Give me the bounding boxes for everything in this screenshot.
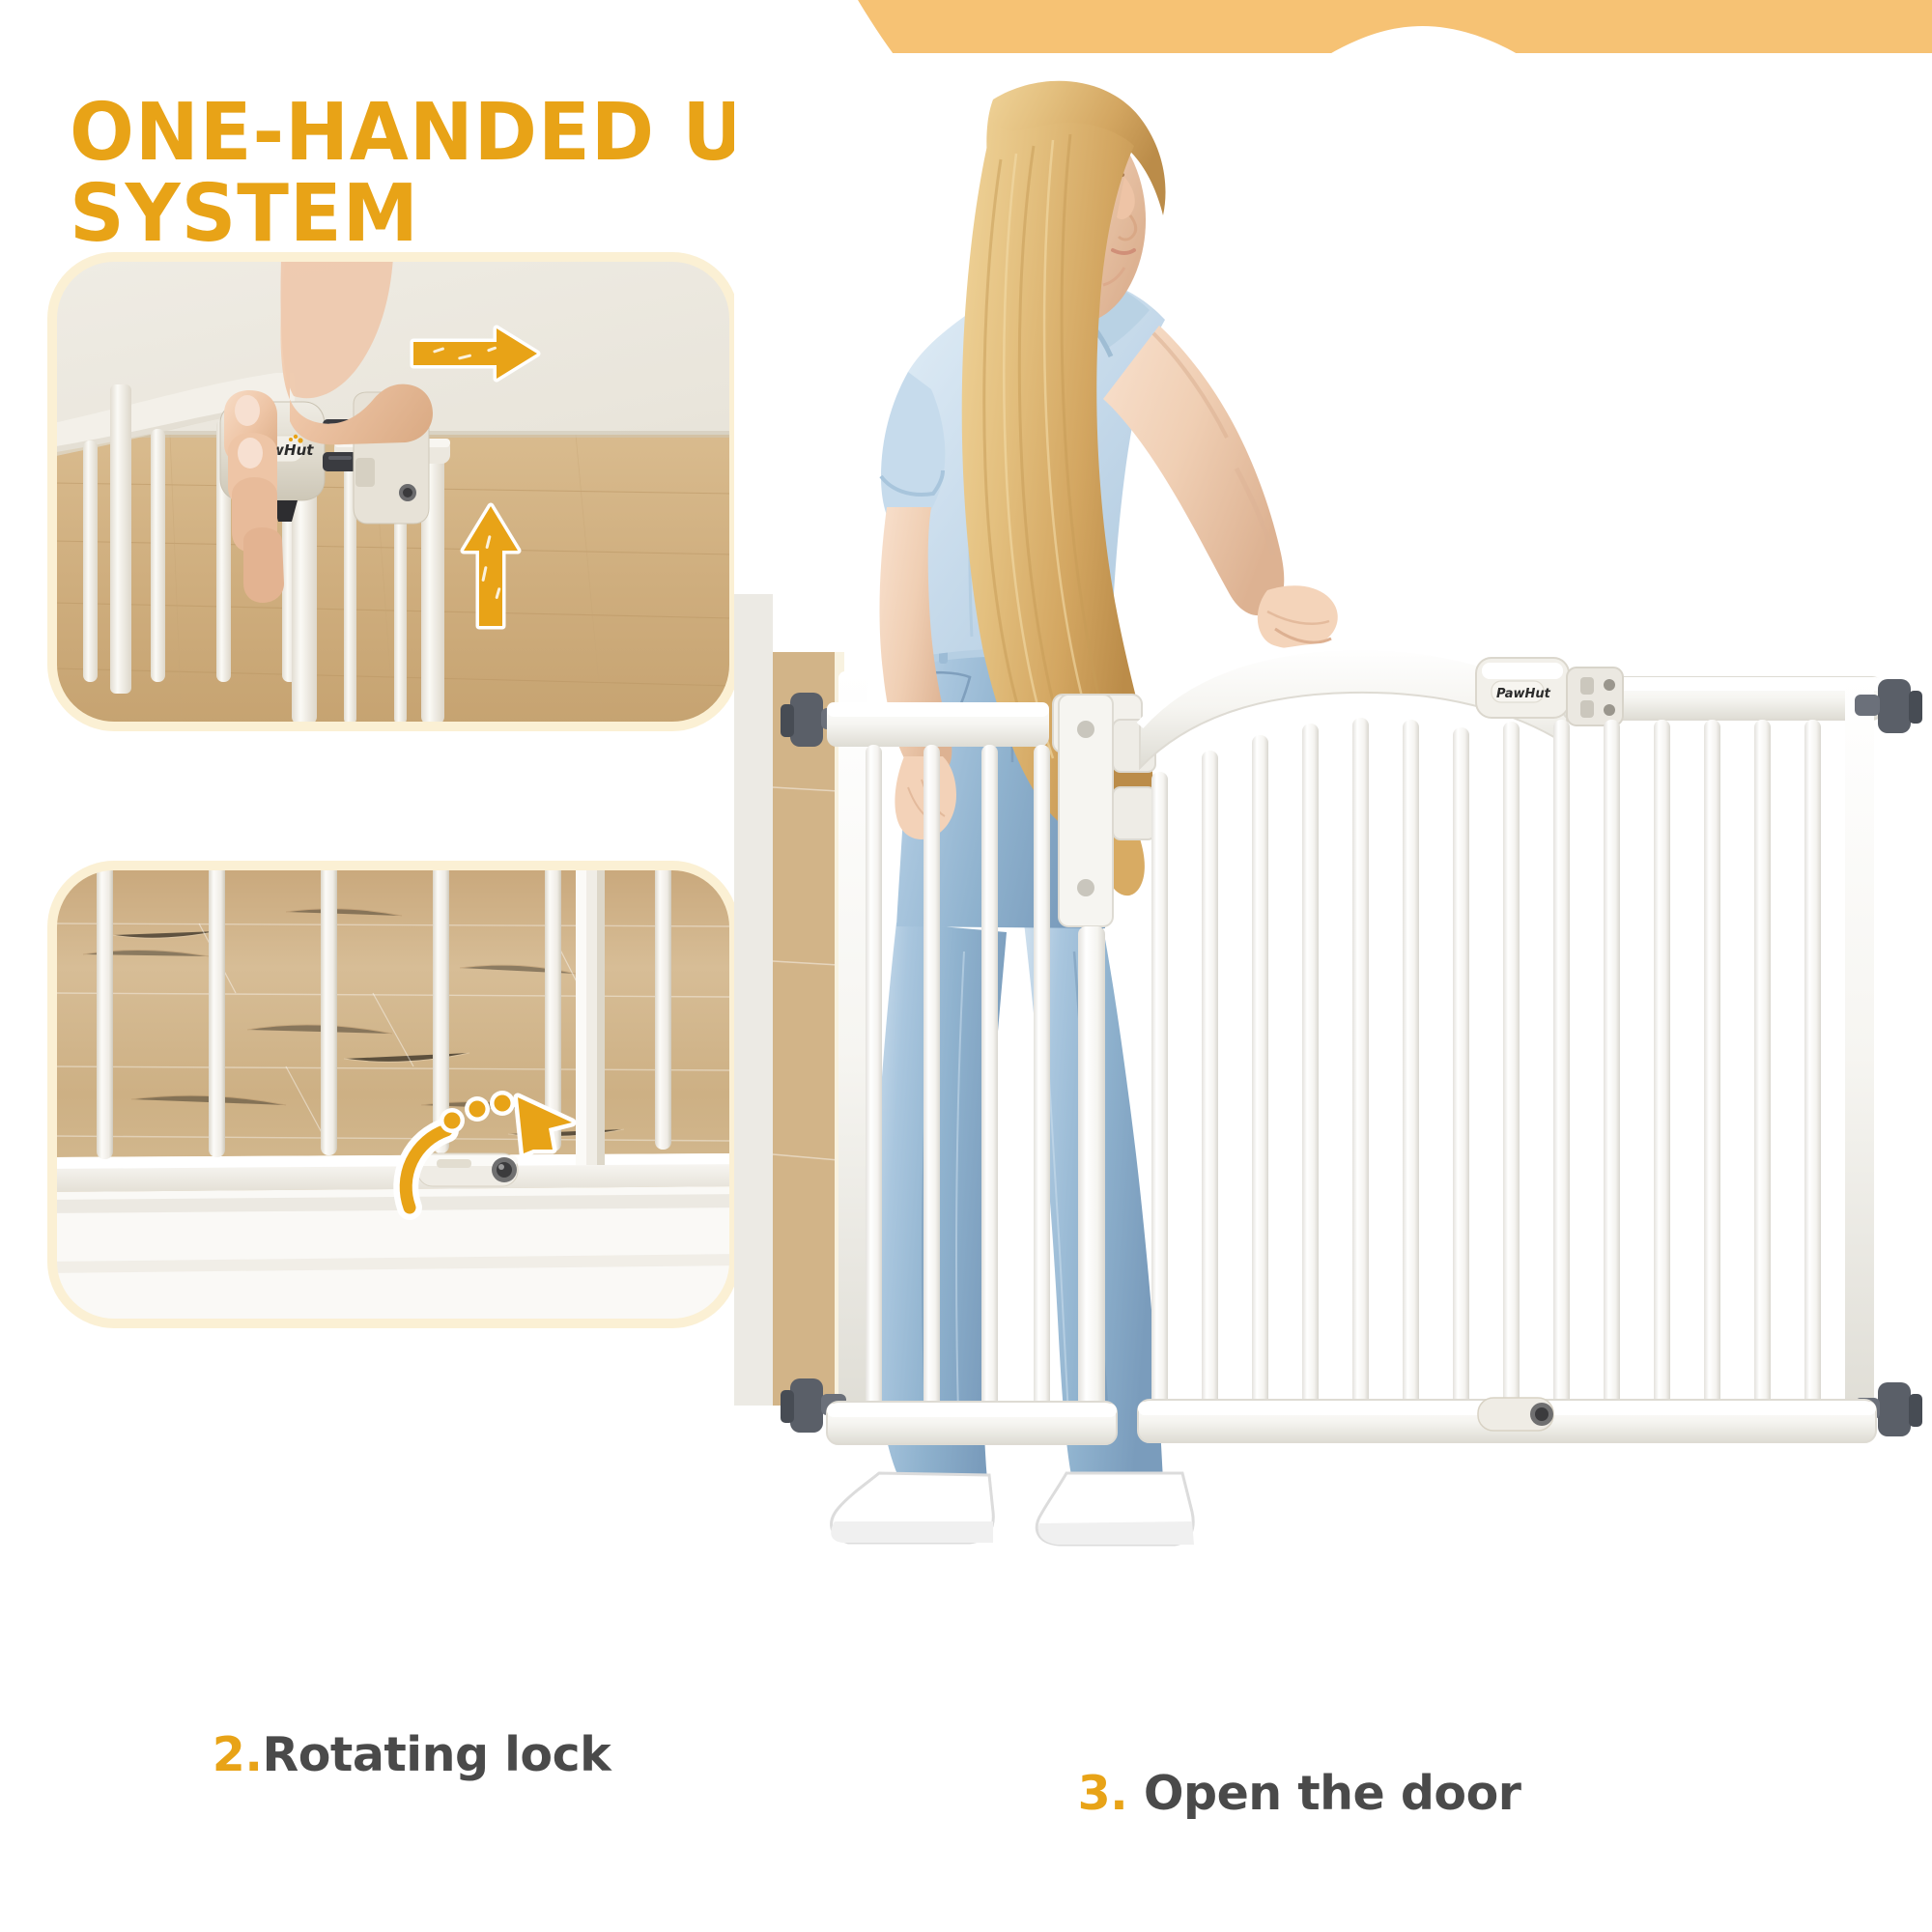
rotating-lock-hardware [417,1153,518,1186]
step-3-number: 3. [1078,1766,1128,1821]
open-the-door-photo: PawHut [734,53,1932,1782]
bottom-rotating-lock [1478,1398,1553,1431]
step-1-photo-card: PawHut [54,259,732,724]
step-2-number: 2. [213,1727,263,1782]
step-2-label: Rotating lock [263,1727,611,1782]
gate-latch-pawhut: PawHut [1476,658,1623,725]
step-3-caption: 3. Open the door [1000,1768,1599,1821]
press-button-lift-door-photo: PawHut [54,259,732,724]
step-2-photo-card [54,867,732,1321]
step-3-photo-card: PawHut [734,53,1932,1782]
step-2-caption: 2.Rotating lock [102,1729,721,1782]
rotating-lock-photo [54,867,732,1321]
svg-text:PawHut: PawHut [1496,687,1551,701]
infographic-page: ONE-HANDED USE SYSTEM [0,0,1932,1932]
step-3-label: Open the door [1127,1766,1520,1821]
